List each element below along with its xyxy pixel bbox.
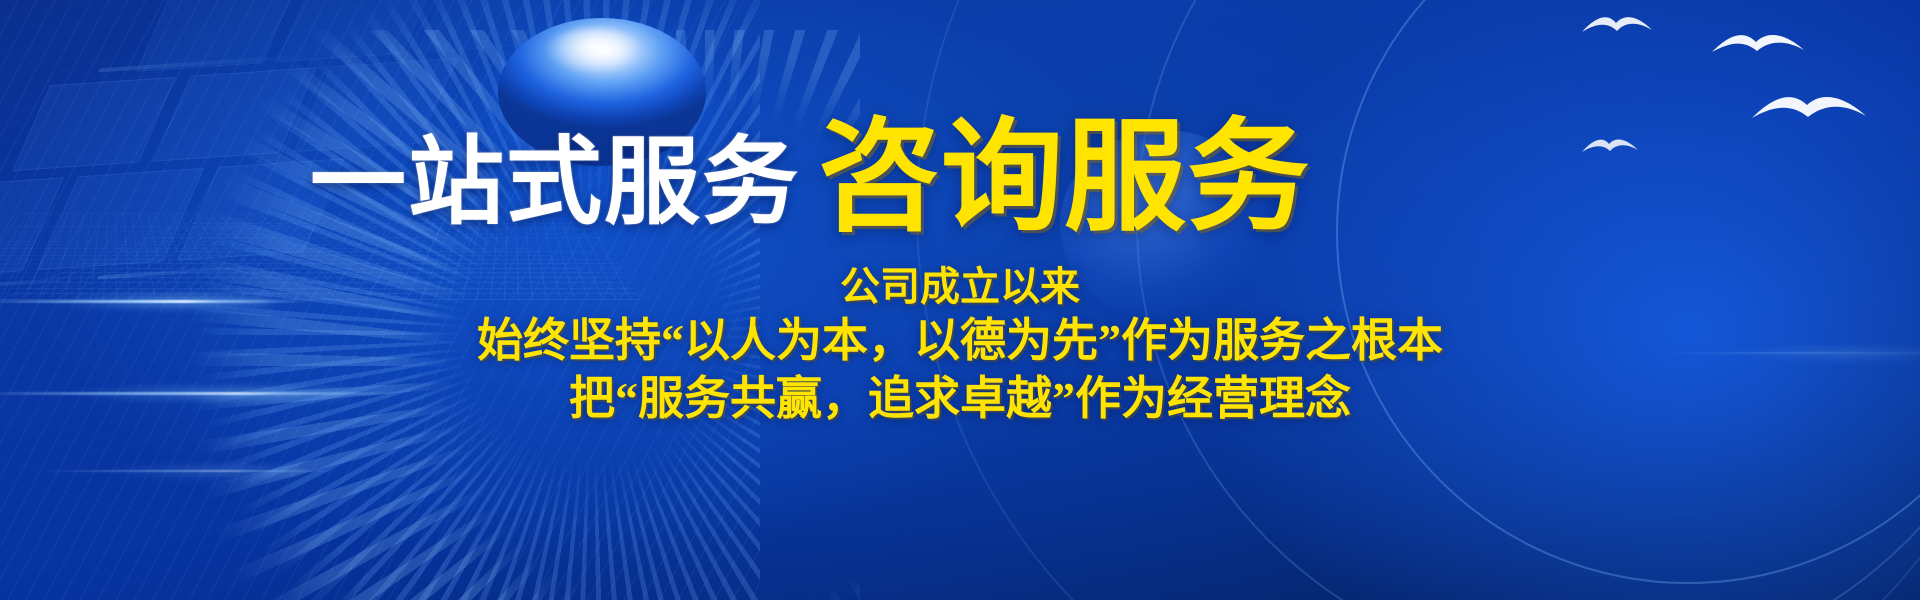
subtitle-line-3: 把“服务共赢，追求卓越”作为经营理念 [0, 370, 1920, 428]
subtitle-line-1: 公司成立以来 [0, 262, 1920, 312]
headline-accent-text: 咨询服务 [818, 78, 1310, 255]
subtitle-line-2: 始终坚持“以人为本，以德为先”作为服务之根本 [0, 312, 1920, 370]
headline-block: 一站式服务 咨询服务 [0, 78, 1540, 228]
light-streak-3 [40, 470, 340, 472]
seagull-3-icon [1750, 86, 1868, 134]
seagull-4-icon [1580, 134, 1640, 160]
promo-banner: 一站式服务 咨询服务 公司成立以来 始终坚持“以人为本，以德为先”作为服务之根本… [0, 0, 1920, 600]
subtitle-block: 公司成立以来 始终坚持“以人为本，以德为先”作为服务之根本 把“服务共赢，追求卓… [0, 262, 1920, 428]
sphere-highlight [546, 28, 642, 74]
headline-primary-text: 一站式服务 [310, 104, 800, 243]
seagull-2-icon [1580, 10, 1654, 42]
seagull-1-icon [1710, 26, 1806, 66]
